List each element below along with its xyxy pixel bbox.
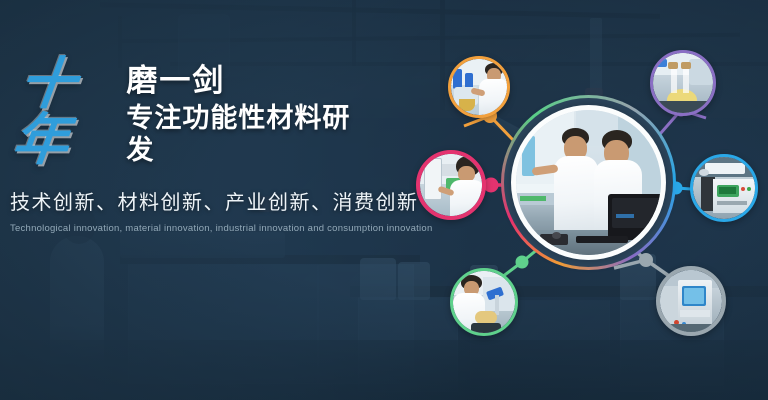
center-circle-group (501, 95, 676, 270)
headline-line-b: 专注功能性材料研发 (126, 102, 370, 166)
satellite-circle-bottom-right[interactable] (656, 266, 726, 336)
center-circle-photo (511, 105, 666, 260)
circle-cluster (398, 38, 768, 378)
headline-first-line: 十年 磨一剑 专注功能性材料研发 (10, 104, 370, 168)
brush-calligraphy-text: 十年 (3, 56, 127, 168)
satellite-circle-left[interactable] (416, 150, 486, 220)
headline-block: 十年 磨一剑 专注功能性材料研发 技术创新、材料创新、产业创新、消费创新 Tec… (10, 104, 370, 234)
satellite-circle-bottom-left[interactable] (450, 268, 518, 336)
satellite-circle-top-left[interactable] (448, 56, 510, 118)
headline-right-column: 磨一剑 专注功能性材料研发 (126, 64, 370, 168)
satellite-circle-right[interactable] (690, 154, 758, 222)
headline-line-a: 磨一剑 (126, 64, 370, 98)
satellite-circle-top-right[interactable] (650, 50, 716, 116)
promotional-banner: 十年 磨一剑 专注功能性材料研发 技术创新、材料创新、产业创新、消费创新 Tec… (0, 0, 768, 400)
subheadline-chinese: 技术创新、材料创新、产业创新、消费创新 (10, 186, 370, 215)
subheadline-english: Technological innovation, material innov… (10, 223, 370, 234)
